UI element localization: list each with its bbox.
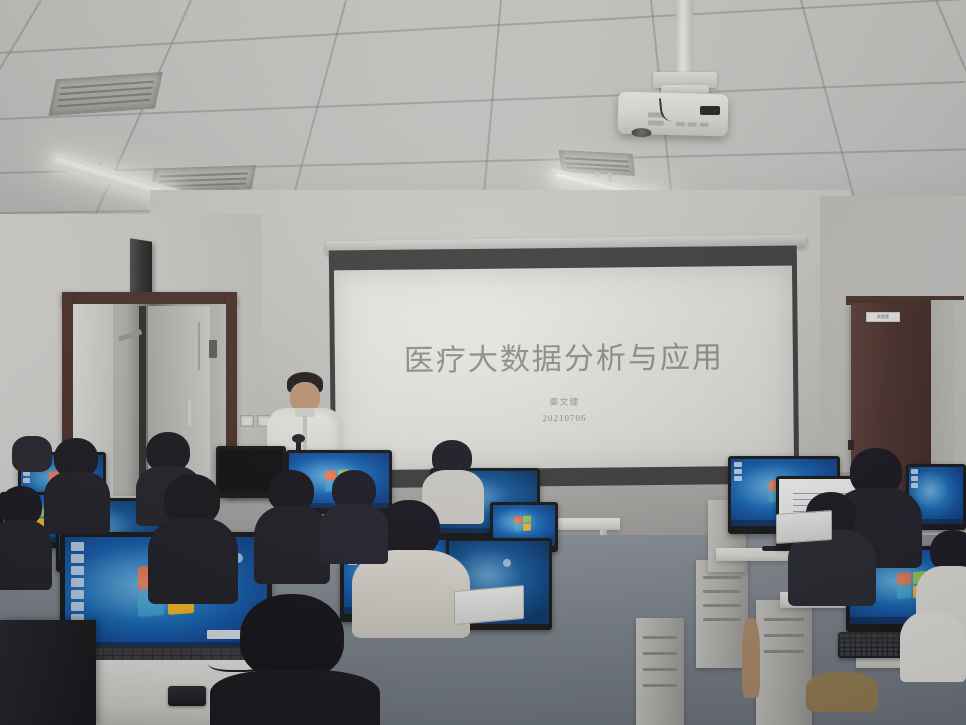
slide-title: 医疗大数据分析与应用 <box>335 332 793 381</box>
backpack <box>12 436 52 472</box>
slide-surface: 医疗大数据分析与应用 秦文健 20210706 <box>334 266 794 471</box>
door-handle[interactable] <box>848 440 854 450</box>
smartphone[interactable] <box>168 686 206 706</box>
student-clothing <box>806 672 878 712</box>
door-sign: 实验室 <box>866 312 900 322</box>
slide-author: 秦文健 <box>335 393 793 411</box>
classroom-photo: 实验室 医疗大数据分析与应用 秦文健 20210706 <box>0 0 966 725</box>
socket[interactable] <box>240 415 254 427</box>
slide-date: 20210706 <box>335 411 793 426</box>
pc-tower <box>636 618 684 725</box>
pc-tower <box>756 600 812 725</box>
laptop[interactable] <box>776 510 832 544</box>
pc-tower <box>696 560 748 668</box>
microphone-head <box>292 434 305 443</box>
pc-tower <box>0 620 96 725</box>
laptop[interactable] <box>454 585 524 625</box>
